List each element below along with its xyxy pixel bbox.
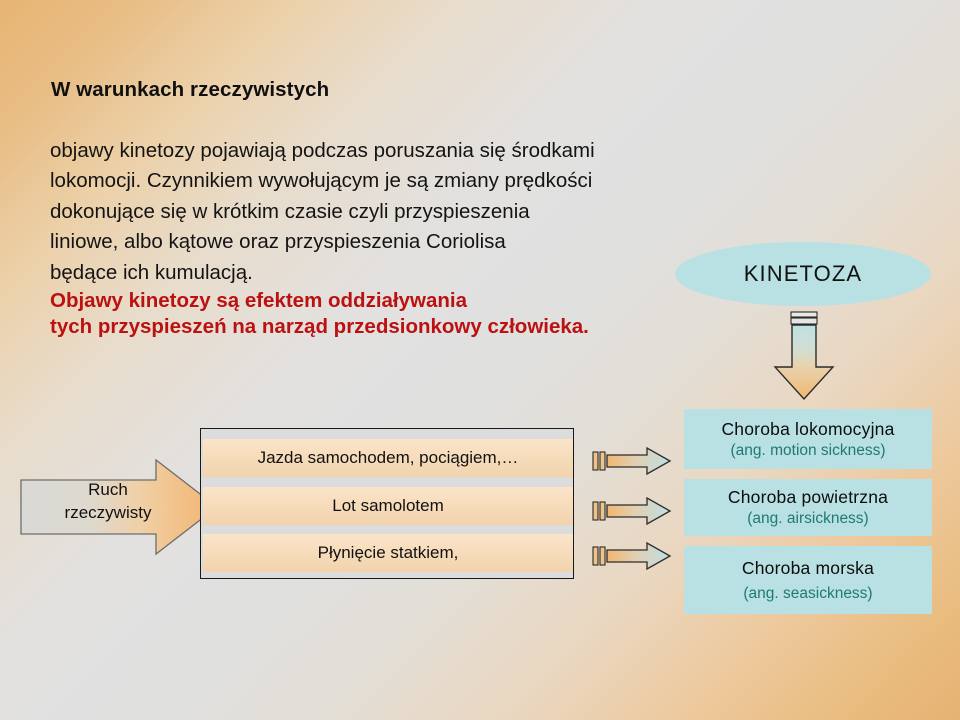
- result-box: Choroba morska (ang. seasickness): [684, 546, 932, 614]
- result-title: Choroba powietrzna: [728, 486, 888, 508]
- emphasis-paragraph: Objawy kinetozy są efektem oddziaływania…: [50, 288, 589, 339]
- connector-arrow-icon: [592, 541, 672, 571]
- result-subtitle: (ang. motion sickness): [730, 440, 885, 461]
- down-arrow-icon: [770, 311, 838, 401]
- connector-arrow-icon: [592, 446, 672, 476]
- real-motion-label: Ruch rzeczywisty: [48, 478, 168, 524]
- kinetoza-label: KINETOZA: [744, 261, 862, 287]
- body-paragraph: objawy kinetozy pojawiają podczas porusz…: [50, 136, 595, 288]
- list-item: Płynięcie statkiem,: [203, 534, 573, 572]
- slide-canvas: W warunkach rzeczywistych objawy kinetoz…: [0, 0, 960, 720]
- page-title: W warunkach rzeczywistych: [51, 78, 329, 102]
- result-box: Choroba lokomocyjna (ang. motion sicknes…: [684, 409, 932, 469]
- result-title: Choroba morska: [742, 557, 874, 579]
- list-item: Lot samolotem: [203, 487, 573, 525]
- list-item: Jazda samochodem, pociągiem,…: [203, 439, 573, 477]
- result-title: Choroba lokomocyjna: [721, 418, 894, 440]
- result-subtitle: (ang. airsickness): [747, 508, 868, 529]
- transport-modes-box: Jazda samochodem, pociągiem,… Lot samolo…: [200, 428, 574, 579]
- result-box: Choroba powietrzna (ang. airsickness): [684, 479, 932, 536]
- kinetoza-ellipse: KINETOZA: [675, 242, 931, 306]
- connector-arrow-icon: [592, 496, 672, 526]
- result-subtitle: (ang. seasickness): [743, 583, 872, 604]
